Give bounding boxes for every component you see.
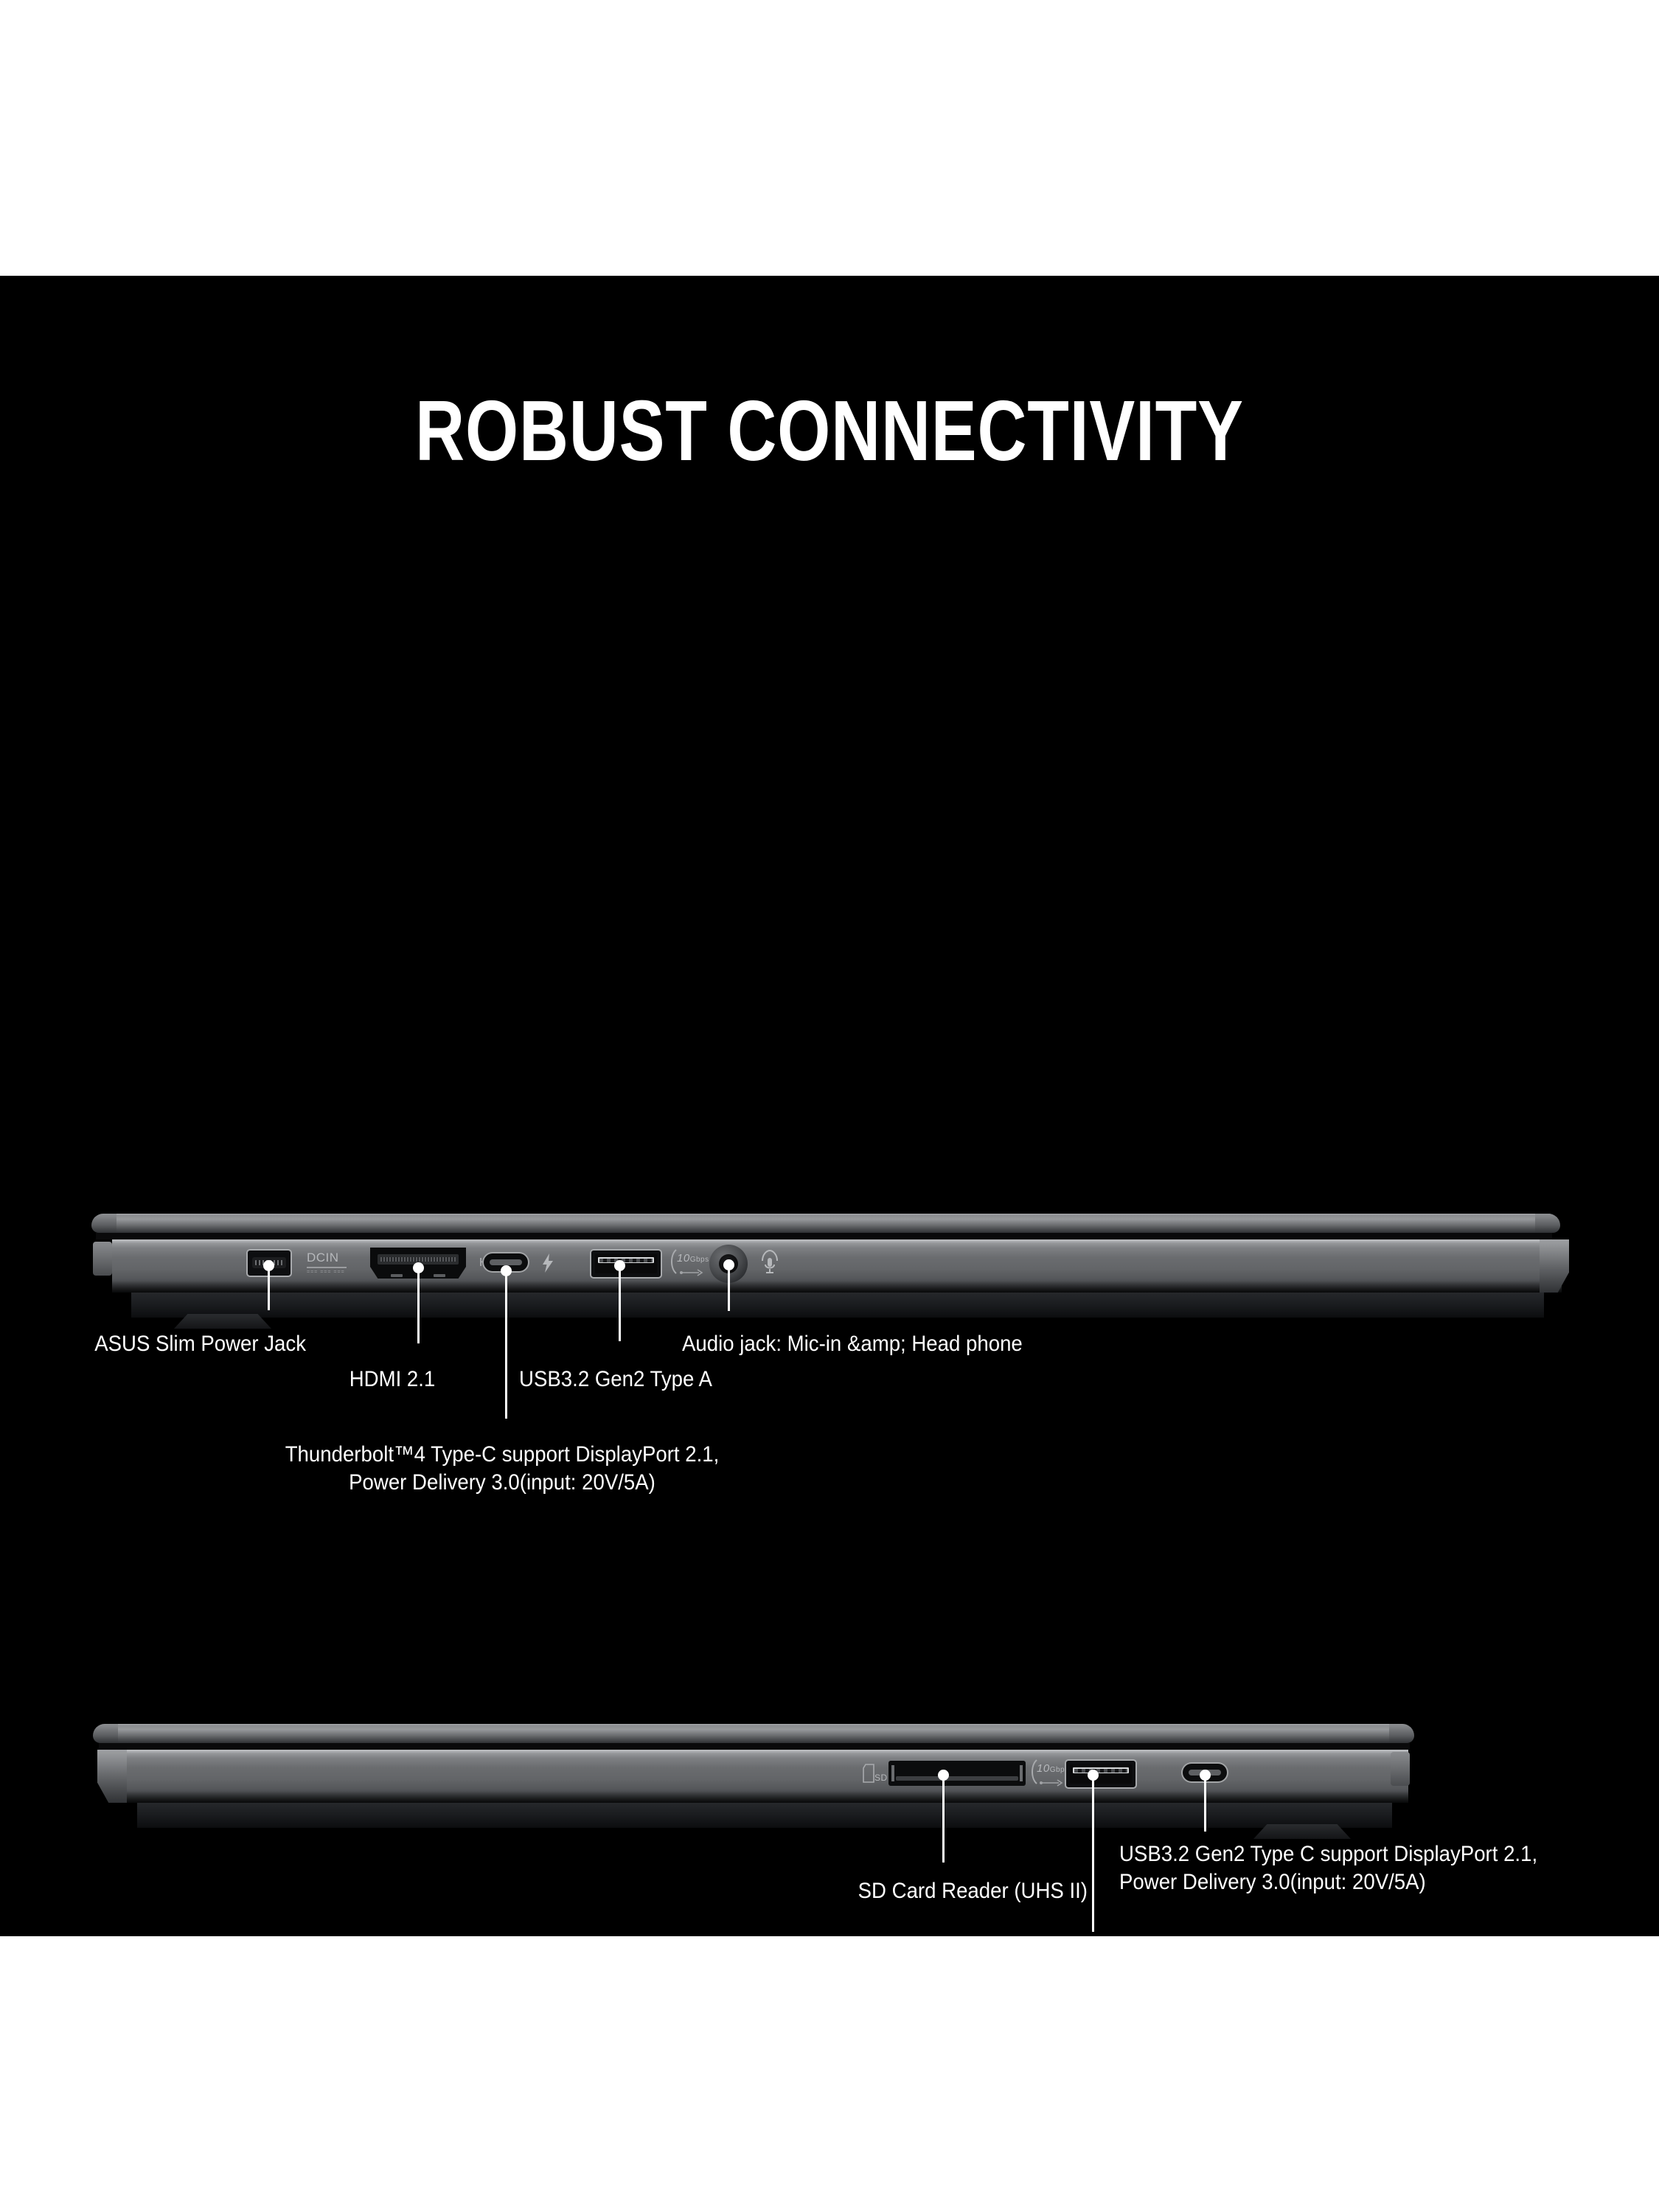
laptop-lid-edge <box>103 1214 1550 1233</box>
laptop-foot <box>1253 1824 1351 1839</box>
leader-line <box>268 1266 270 1310</box>
hdmi-tab-right <box>434 1274 445 1277</box>
lid-left-cap <box>93 1724 118 1743</box>
usb-trident-icon <box>1040 1778 1065 1787</box>
lid-highlight <box>105 1724 1402 1726</box>
leader-line <box>728 1265 730 1311</box>
hero-black-band: ROBUST CONNECTIVITY <box>0 276 1659 1936</box>
hdmi-contacts <box>380 1257 456 1262</box>
usb-10gbps-unit: Gbps <box>690 1256 709 1264</box>
base-shadow <box>112 1281 1562 1293</box>
sd-silkscreen-label: SD <box>874 1773 888 1783</box>
sd-slot-end-left <box>891 1765 894 1781</box>
lid-right-cap <box>1535 1214 1560 1233</box>
usb-10gbps-bracket-icon <box>668 1249 678 1274</box>
dcin-silkscreen-label: DCIN <box>307 1251 339 1265</box>
laptop-lid-edge <box>105 1724 1402 1743</box>
sd-card-slot-icon[interactable] <box>888 1761 1026 1786</box>
dcin-silkscreen-bar <box>307 1267 347 1268</box>
page-title: ROBUST CONNECTIVITY <box>166 388 1493 473</box>
connectivity-infographic: ROBUST CONNECTIVITY <box>0 0 1659 2212</box>
lid-left-cap <box>91 1214 116 1233</box>
thunderbolt-bolt-icon <box>541 1253 554 1273</box>
callout-thunderbolt: Thunderbolt™4 Type-C support DisplayPort… <box>201 1441 804 1497</box>
callout-usb-a-top: USB3.2 Gen2 Type A <box>490 1366 741 1394</box>
usb-a-port-icon[interactable] <box>1065 1759 1137 1789</box>
lid-base-gap <box>96 1233 1552 1239</box>
leader-line <box>942 1775 945 1863</box>
usb-a-port-icon[interactable] <box>590 1249 662 1279</box>
base-right-chamfer <box>1540 1239 1569 1293</box>
usb-trident-icon <box>680 1268 705 1277</box>
thunderbolt-port-tongue <box>490 1259 522 1265</box>
hinge-notch <box>93 1242 112 1276</box>
usb-a-contacts <box>1074 1769 1127 1773</box>
callout-power-jack: ASUS Slim Power Jack <box>24 1330 306 1358</box>
usb-10gbps-number: 10 <box>1037 1762 1050 1775</box>
leader-line <box>619 1266 621 1341</box>
base-highlight <box>112 1239 1562 1243</box>
base-shadow <box>125 1791 1408 1803</box>
callout-hdmi: HDMI 2.1 <box>311 1366 474 1394</box>
leader-line <box>505 1271 507 1419</box>
dcin-silkscreen-dots: === === === <box>307 1270 345 1275</box>
usb-10gbps-silkscreen: 10Gbps <box>677 1252 709 1265</box>
laptop-foot <box>174 1314 271 1329</box>
callout-sd-card-reader: SD Card Reader (UHS II) <box>562 1877 1088 1905</box>
headset-mic-icon <box>759 1249 780 1274</box>
laptop-left-side-view: DCIN === === === HDMI <box>0 1203 1659 1343</box>
base-highlight <box>125 1750 1408 1753</box>
hdmi-tab-left <box>391 1274 403 1277</box>
leader-line <box>1204 1775 1206 1832</box>
laptop-underside <box>131 1293 1544 1318</box>
sd-slot-cavity <box>888 1761 1026 1786</box>
laptop-right-side-view: SD 10Gbps <box>0 1714 1659 1854</box>
base-left-chamfer <box>97 1750 127 1803</box>
sd-slot-lip <box>896 1776 1018 1781</box>
sd-slot-end-right <box>1020 1765 1023 1781</box>
lid-highlight <box>103 1214 1550 1216</box>
leader-line <box>417 1268 420 1343</box>
lid-right-cap <box>1389 1724 1414 1743</box>
callout-usb-c-bottom: USB3.2 Gen2 Type C support DisplayPort 2… <box>1119 1840 1621 1896</box>
hinge-notch <box>1391 1752 1410 1786</box>
callout-audio-jack: Audio jack: Mic-in &amp; Head phone <box>682 1330 1157 1358</box>
usb-a-contacts <box>599 1259 653 1262</box>
usb-10gbps-number: 10 <box>677 1252 690 1265</box>
laptop-base-edge <box>112 1239 1562 1293</box>
leader-line <box>1092 1775 1094 1932</box>
lid-base-gap <box>99 1743 1410 1750</box>
